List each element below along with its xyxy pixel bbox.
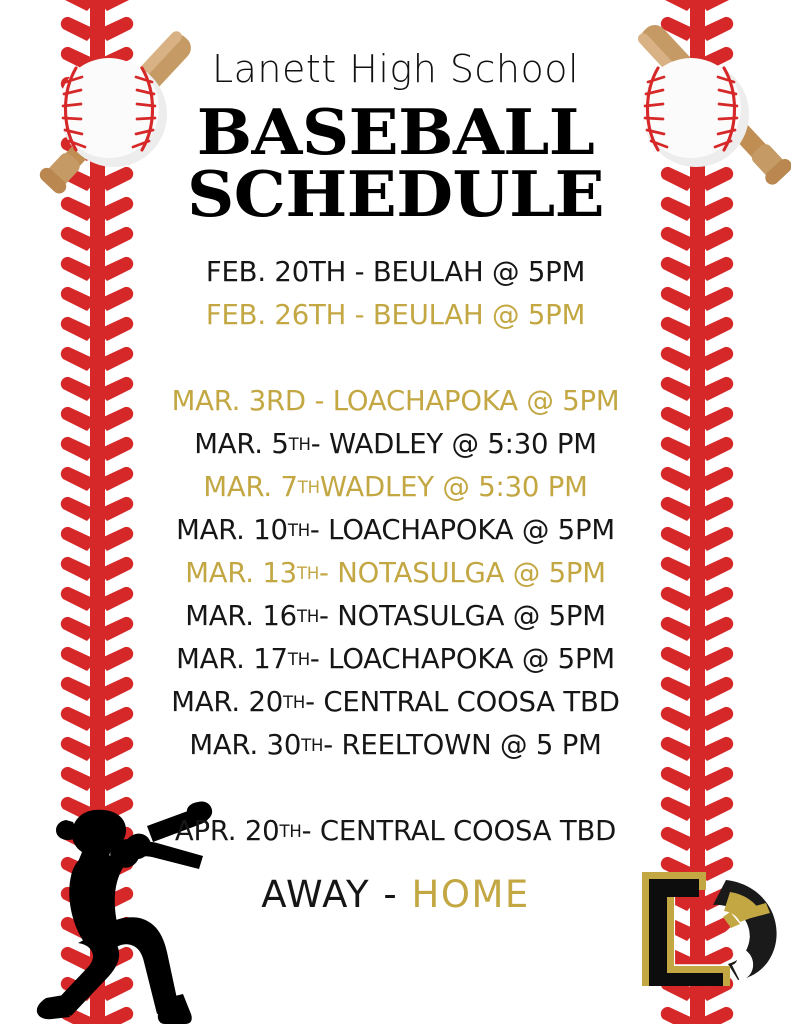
schedule-game-mar-5: MAR. 5TH - WADLEY @ 5:30 PM (116, 423, 676, 466)
schedule-game-mar-7: MAR. 7TH WADLEY @ 5:30 PM (116, 466, 676, 509)
legend-away-label: AWAY (261, 873, 370, 916)
schedule-game-mar-20: MAR. 20TH - CENTRAL COOSA TBD (116, 681, 676, 724)
schedule-game-mar-10: MAR. 10TH - LOACHAPOKA @ 5PM (116, 509, 676, 552)
schedule-game-mar-16: MAR. 16TH - NOTASULGA @ 5PM (116, 595, 676, 638)
schedule-game-mar-30: MAR. 30TH - REELTOWN @ 5 PM (116, 724, 676, 767)
schedule-list: FEB. 20TH - BEULAH @ 5PMFEB. 26TH - BEUL… (116, 251, 676, 853)
schedule-game-mar-13: MAR. 13TH - NOTASULGA @ 5PM (116, 552, 676, 595)
schedule-game-mar-3: MAR. 3RD - LOACHAPOKA @ 5PM (116, 380, 676, 423)
legend-dash: - (370, 873, 411, 916)
schedule-game-feb-20: FEB. 20TH - BEULAH @ 5PM (116, 251, 676, 294)
schedule-spacer (116, 337, 676, 380)
schedule-game-apr-20: APR. 20TH - CENTRAL COOSA TBD (116, 810, 676, 853)
school-name: Lanett High School (212, 50, 579, 88)
legend: AWAY - HOME (261, 873, 530, 916)
poster-content: Lanett High School BASEBALL SCHEDULE FEB… (0, 0, 791, 1024)
legend-home-label: HOME (412, 873, 530, 916)
schedule-spacer (116, 767, 676, 810)
title-line-schedule: SCHEDULE (187, 164, 604, 226)
schedule-game-feb-26: FEB. 26TH - BEULAH @ 5PM (116, 294, 676, 337)
title-line-baseball: BASEBALL (187, 102, 604, 164)
baseball-schedule-poster: Lanett High School BASEBALL SCHEDULE FEB… (0, 0, 791, 1024)
page-title: BASEBALL SCHEDULE (187, 102, 604, 225)
schedule-game-mar-17: MAR. 17TH - LOACHAPOKA @ 5PM (116, 638, 676, 681)
